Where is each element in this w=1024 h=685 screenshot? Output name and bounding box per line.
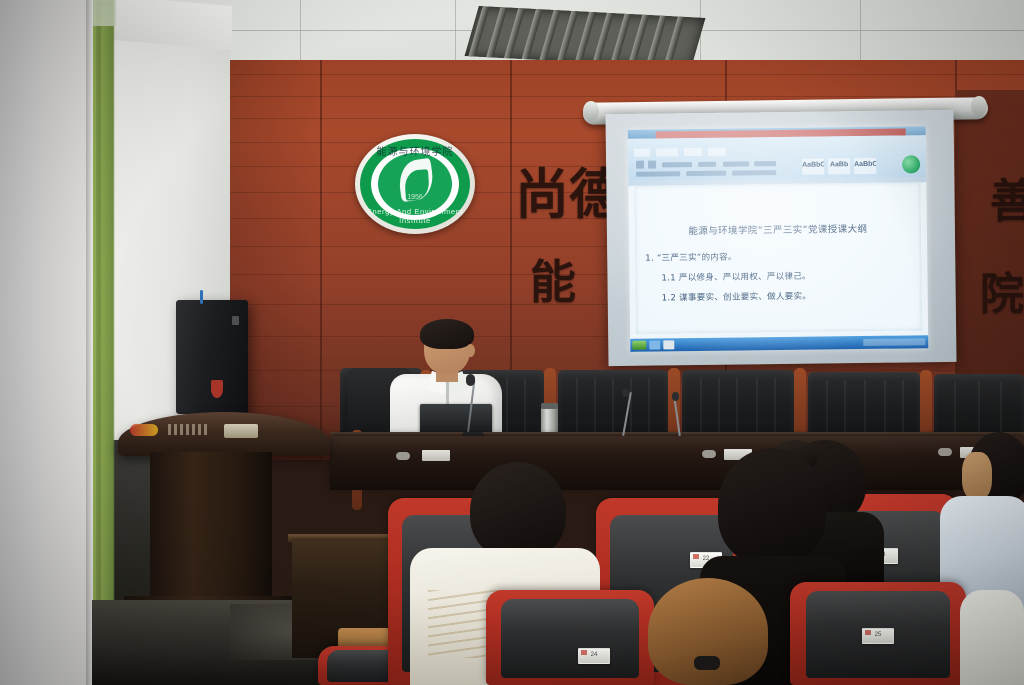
roller-cap-left xyxy=(583,101,599,121)
microphone-head-icon[interactable] xyxy=(622,388,629,397)
microphone-head-icon[interactable] xyxy=(466,374,475,386)
pillar-edge xyxy=(86,0,93,685)
table-knob[interactable] xyxy=(396,452,410,460)
head-table xyxy=(330,436,1024,490)
presenter-hair xyxy=(420,319,474,349)
left-pillar xyxy=(0,0,92,685)
hair-tie-clip xyxy=(694,656,720,670)
wall-character-shan: 善 xyxy=(990,165,1024,231)
lectern-column xyxy=(150,452,272,602)
thermos-cap xyxy=(541,403,558,409)
speaker-antenna xyxy=(200,290,203,304)
seat-number: 24 xyxy=(579,652,609,658)
microphone-head-icon[interactable] xyxy=(672,392,679,401)
logo-chinese-text: 能源与环境学院 xyxy=(355,143,475,158)
institute-logo: 能源与环境学院 1956 Energy And Environment Inst… xyxy=(355,134,475,234)
speaker-brand-mark xyxy=(211,380,223,398)
audience-person-head xyxy=(470,462,566,560)
audience-person-head-long-hair xyxy=(718,448,826,564)
seat-number: 25 xyxy=(863,632,893,638)
table-name-plate xyxy=(422,450,450,461)
logo-english-text: Energy And Environment Institute xyxy=(355,207,475,225)
screen-glare xyxy=(605,110,956,366)
speaker-indicator-icon xyxy=(232,316,239,325)
seat-number-label: 24 xyxy=(578,648,610,664)
lectern-logo-text xyxy=(168,424,208,435)
lectern-badge-icon xyxy=(130,424,158,436)
ceiling-light-grille-icon xyxy=(465,6,706,68)
presenter-ear xyxy=(466,344,475,357)
audience-person-body-right-edge xyxy=(960,590,1024,685)
seat-number-label: 25 xyxy=(862,628,894,644)
roller-cap-right xyxy=(971,96,987,116)
projection-screen: AaBbCc AaBb AaBbCc 能源与环境学院“三严三实”党课授课大纲 1… xyxy=(605,110,956,366)
audience-person-face xyxy=(962,452,992,500)
audience-chair-front[interactable] xyxy=(486,590,654,685)
wall-character-neng: 能 xyxy=(530,246,576,312)
lectern-name-plate xyxy=(224,424,258,438)
table-knob[interactable] xyxy=(938,448,952,456)
lecture-hall-photo: 能源与环境学院 1956 Energy And Environment Inst… xyxy=(0,0,1024,685)
wall-character-yuan: 院 xyxy=(980,258,1024,322)
logo-year: 1956 xyxy=(355,194,475,201)
table-knob[interactable] xyxy=(702,450,716,458)
